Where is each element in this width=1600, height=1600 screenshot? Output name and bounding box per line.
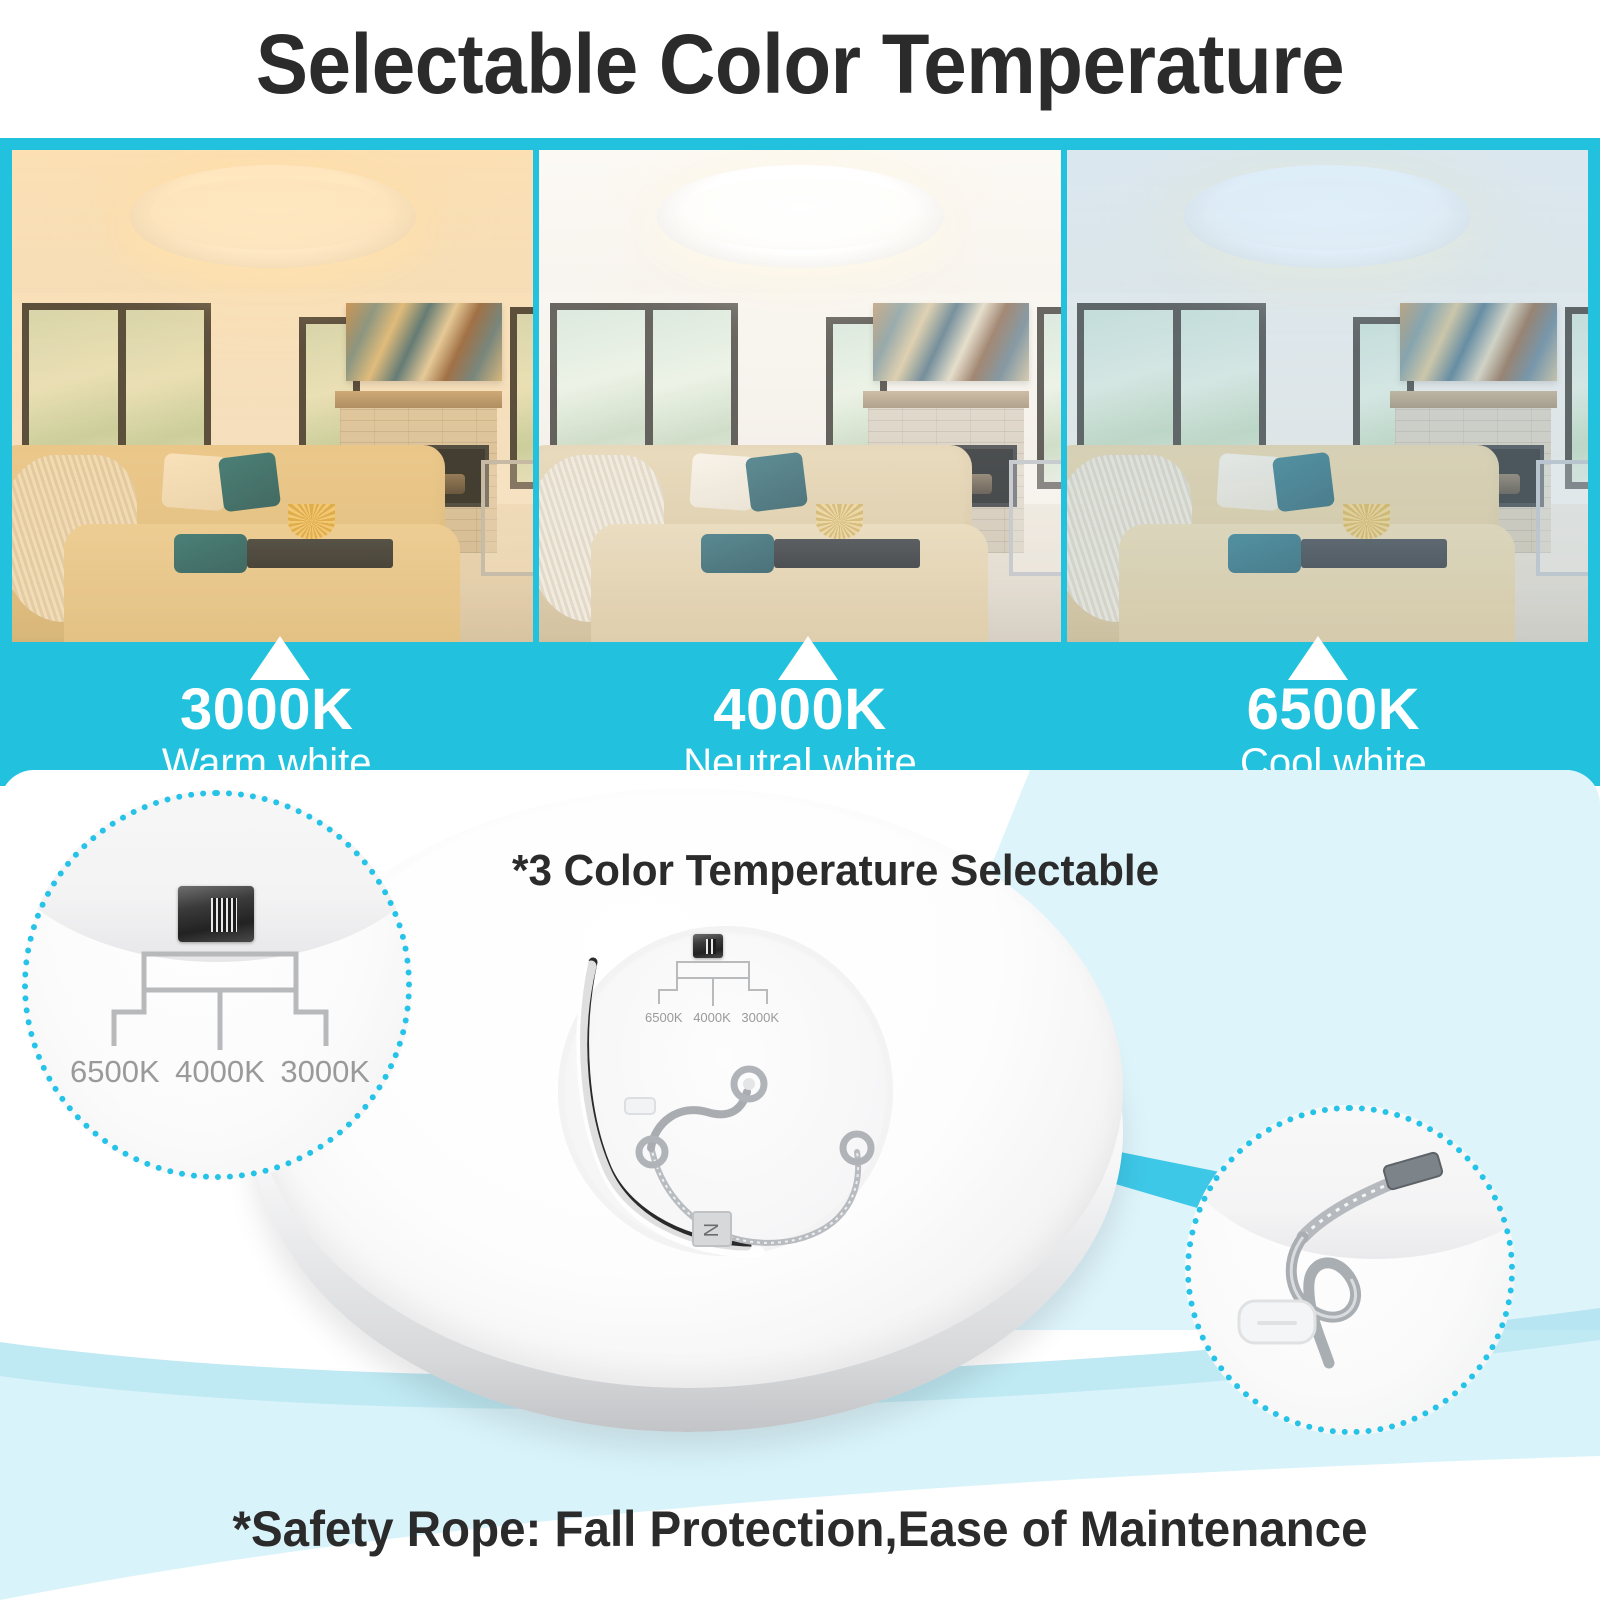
ceiling-light-fixture: [1184, 165, 1471, 268]
pointer-triangle-6500k: [1288, 636, 1348, 680]
decor-bowl: [1343, 504, 1390, 538]
room-scene-cool: [1067, 150, 1588, 642]
pointer-triangle-3000k: [250, 636, 310, 680]
throw-pillow: [689, 453, 755, 511]
svg-text:N: N: [701, 1223, 723, 1237]
ct-kelvin-3000k: 3000K: [180, 680, 353, 740]
footer-caption: *Safety Rope: Fall Protection,Ease of Ma…: [40, 1500, 1560, 1558]
coffee-table: [247, 539, 393, 569]
coffee-table: [774, 539, 920, 569]
magnifier-safety-rope-ring: [1185, 1105, 1515, 1435]
room-photo-3000k: [12, 150, 533, 642]
side-chair: [481, 460, 533, 576]
wall-art: [873, 303, 1029, 382]
room-scene-neutral: [539, 150, 1060, 642]
ceiling-light-fixture: [129, 165, 416, 268]
fireplace-mantel: [863, 391, 1030, 408]
infographic-root: Selectable Color Temperature: [0, 0, 1600, 1600]
product-detail-panel: 6500K 4000K 3000K N: [0, 770, 1600, 1600]
coffee-table: [1301, 539, 1447, 569]
pointer-triangle-4000k: [778, 636, 838, 680]
decor-bowl: [288, 504, 335, 538]
color-temperature-comparison-card: 3000K Warm white 4000K Neutral white 650…: [0, 138, 1600, 786]
room-scene-warm: [12, 150, 533, 642]
throw-pillow: [745, 452, 809, 513]
wall-art: [1400, 303, 1556, 382]
fireplace-mantel: [1390, 391, 1557, 408]
ct-kelvin-6500k: 6500K: [1247, 680, 1420, 740]
wall-art: [346, 303, 502, 382]
side-chair: [1009, 460, 1061, 576]
decor-bowl: [816, 504, 863, 538]
throw-pillow: [1228, 534, 1301, 573]
room-photo-4000k: [539, 150, 1060, 642]
throw-pillow: [1272, 452, 1336, 513]
magnifier-dip-switch-ring: [22, 790, 412, 1180]
fireplace-mantel: [335, 391, 502, 408]
throw-pillow: [161, 453, 227, 511]
page-title: Selectable Color Temperature: [56, 4, 1544, 124]
throw-pillow: [701, 534, 774, 573]
ct-kelvin-4000k: 4000K: [713, 680, 886, 740]
ceiling-light-fixture: [657, 165, 944, 268]
room-photo-6500k: [1067, 150, 1588, 642]
detail-headline: *3 Color Temperature Selectable: [512, 846, 1159, 896]
wiring-and-safety-rope: N: [533, 916, 933, 1276]
throw-pillow: [174, 534, 247, 573]
throw-pillow: [217, 452, 281, 513]
room-photo-strip: [12, 150, 1588, 642]
side-chair: [1536, 460, 1588, 576]
